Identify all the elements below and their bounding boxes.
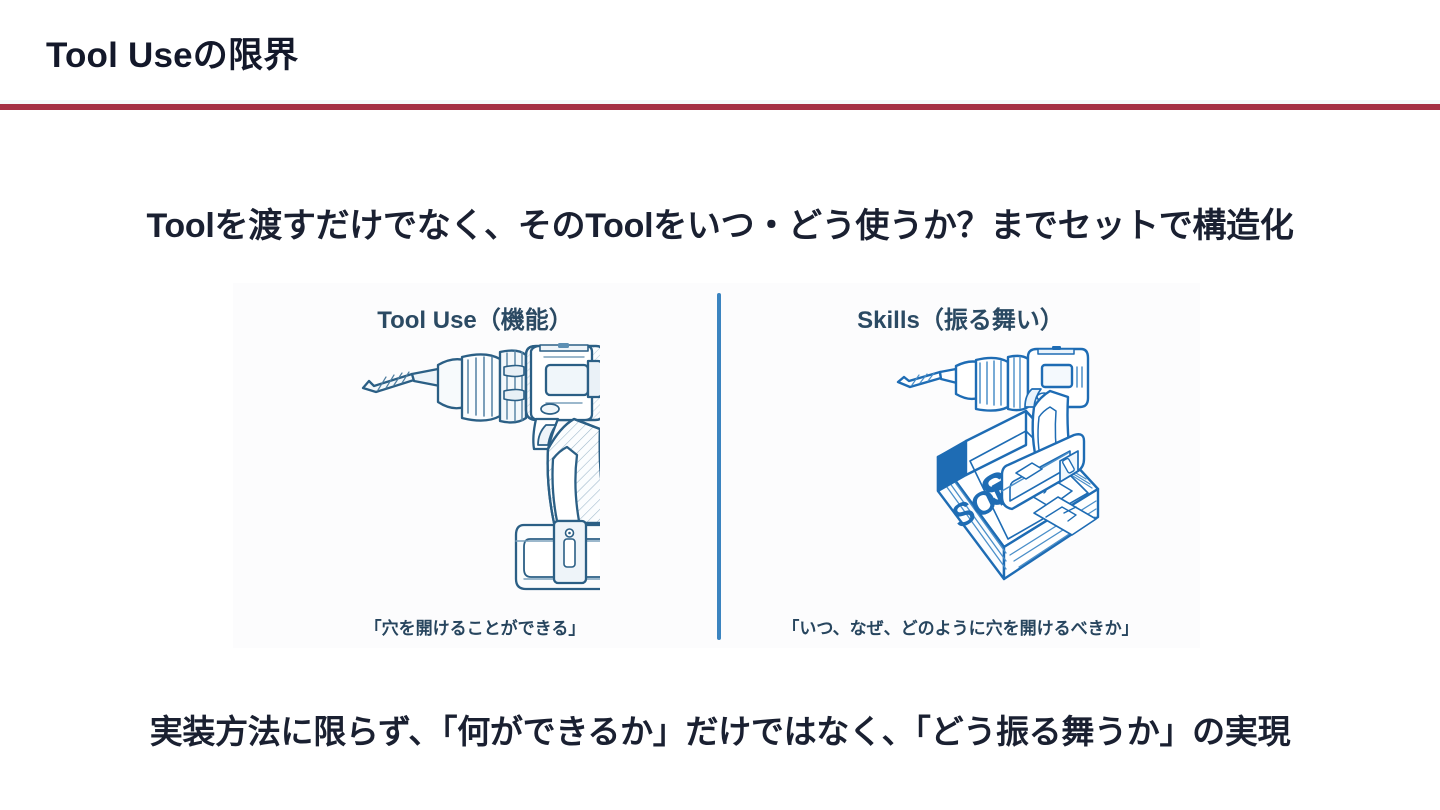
compare-column-skills: Skills（振る舞い） xyxy=(721,283,1200,648)
closing-statement: 実装方法に限らず、「何ができるか」だけではなく、「どう振る舞うか」の実現 xyxy=(0,705,1440,753)
page-title: Tool Useの限界 xyxy=(46,27,298,78)
drill-on-sop-manual-icon: SOP SOP xyxy=(721,337,1200,607)
comparison-panel: Tool Use（機能） xyxy=(233,283,1200,648)
lead-statement: Toolを渡すだけでなく、そのToolをいつ・どう使うか？までセットで構造化 xyxy=(0,198,1440,247)
column-heading-tool-use: Tool Use（機能） xyxy=(233,300,717,335)
title-rule xyxy=(0,104,1440,110)
column-caption-skills: 「いつ、なぜ、どのように穴を開けるべきか」 xyxy=(721,614,1200,639)
compare-column-tool-use: Tool Use（機能） xyxy=(233,283,717,648)
slide-canvas: Tool Useの限界 Toolを渡すだけでなく、そのToolをいつ・どう使うか… xyxy=(0,0,1440,810)
cordless-drill-icon xyxy=(233,337,717,607)
column-caption-tool-use: 「穴を開けることができる」 xyxy=(233,614,717,639)
column-heading-skills: Skills（振る舞い） xyxy=(721,300,1200,335)
